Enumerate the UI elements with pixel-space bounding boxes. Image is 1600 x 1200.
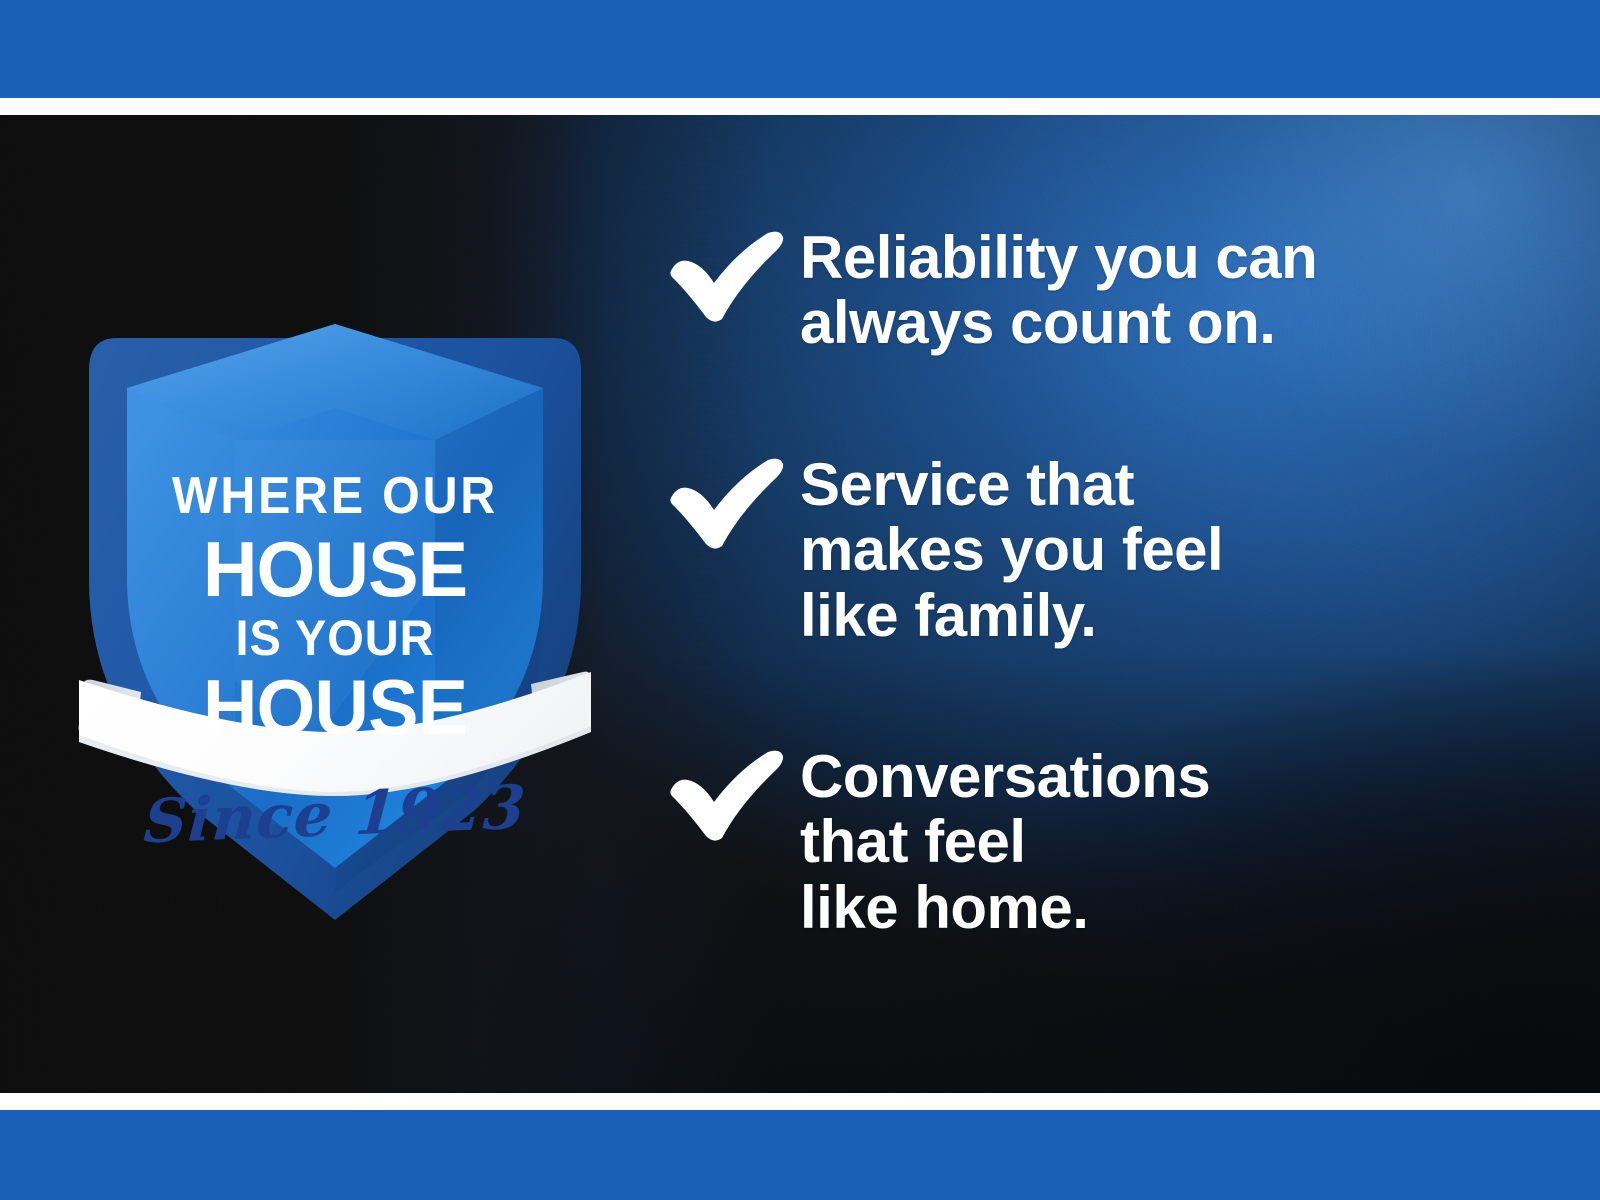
checkmark-icon (668, 452, 800, 550)
badge-line-2: House (83, 530, 587, 608)
bottom-brand-bar (0, 1110, 1600, 1200)
benefit-text: Reliability you can always count on. (800, 225, 1528, 356)
badge-line-4: House (83, 668, 587, 746)
benefit-item: Conversations that feel like home. (668, 744, 1528, 940)
bottom-white-divider (0, 1093, 1600, 1110)
top-brand-bar (0, 0, 1600, 98)
benefit-list: Reliability you can always count on. Ser… (668, 225, 1528, 940)
top-white-divider (0, 98, 1600, 115)
checkmark-icon (668, 744, 800, 842)
shield-badge: Where Our House Is Your House Since 1923 (75, 280, 595, 920)
benefit-text: Service that makes you feel like family. (800, 452, 1528, 648)
benefit-text: Conversations that feel like home. (800, 744, 1528, 940)
benefit-item: Service that makes you feel like family. (668, 452, 1528, 648)
checkmark-icon (668, 225, 800, 323)
promo-graphic: Where Our House Is Your House Since 1923… (0, 0, 1600, 1200)
main-canvas: Where Our House Is Your House Since 1923… (0, 115, 1600, 1093)
badge-line-1: Where Our (93, 470, 577, 522)
benefit-item: Reliability you can always count on. (668, 225, 1528, 356)
badge-line-3: Is Your (91, 613, 580, 663)
